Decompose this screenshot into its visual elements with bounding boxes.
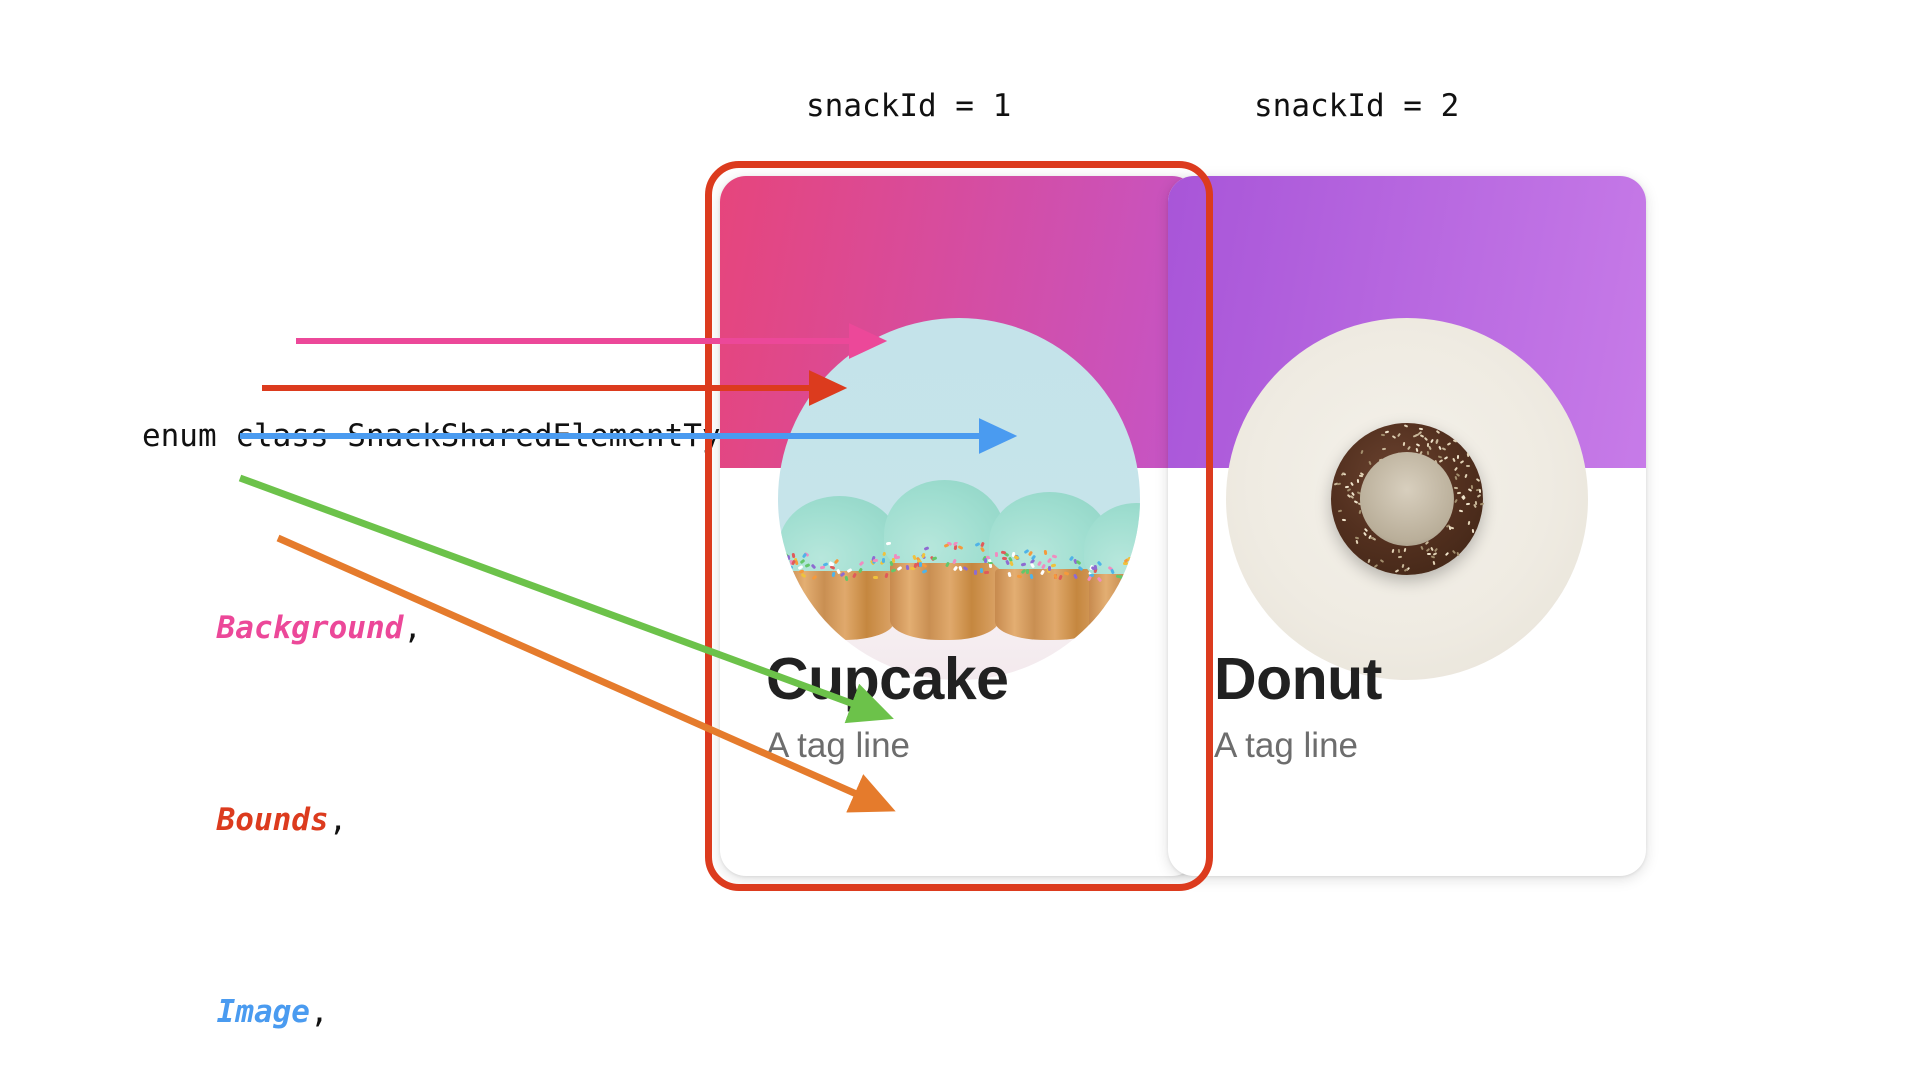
sprinkle [890, 568, 896, 573]
cupcake-4 [1089, 514, 1140, 641]
sprinkle [974, 570, 977, 575]
code-line-image: Image, [30, 940, 795, 988]
sprinkle [1363, 532, 1367, 536]
code-line-bounds: Bounds, [30, 748, 795, 796]
sprinkle [1430, 439, 1434, 443]
sprinkle [1432, 561, 1435, 565]
sprinkle [1464, 473, 1467, 477]
sprinkle [1077, 565, 1083, 570]
sprinkle [1076, 560, 1082, 565]
enum-entry-background: Background [217, 610, 404, 646]
sprinkle [1466, 465, 1470, 467]
sprinkle [1439, 459, 1443, 463]
sprinkle [919, 562, 922, 567]
sprinkle [799, 559, 805, 565]
sprinkle [1466, 502, 1470, 504]
card-title-cupcake: Cupcake [766, 650, 1008, 709]
sprinkle [1454, 498, 1458, 502]
sprinkle [1457, 492, 1461, 494]
cupcake-2 [890, 492, 999, 640]
sprinkle [1040, 570, 1045, 576]
sprinkle [1361, 450, 1364, 454]
sprinkle [1420, 434, 1424, 438]
sprinkle [1009, 560, 1013, 566]
sprinkle [783, 573, 787, 579]
sprinkles [781, 552, 898, 581]
sprinkle [1454, 486, 1458, 488]
sprinkle [1404, 424, 1408, 427]
card-title-donut: Donut [1214, 650, 1382, 709]
sprinkle [1460, 461, 1464, 465]
sprinkle [886, 542, 892, 546]
sprinkle [1397, 433, 1401, 437]
sprinkle [1096, 577, 1102, 583]
sprinkle [952, 559, 957, 565]
sprinkle [1442, 447, 1446, 450]
sprinkle [1398, 556, 1402, 558]
enum-entry-bounds: Bounds [217, 802, 329, 838]
sprinkle [984, 570, 989, 573]
sprinkle [882, 558, 885, 563]
sprinkle [1064, 571, 1070, 575]
sprinkle [1357, 479, 1359, 483]
sprinkle [1337, 483, 1341, 486]
sprinkle [1407, 446, 1411, 450]
sprinkle [1420, 546, 1423, 550]
sprinkle [958, 566, 962, 572]
sprinkle [1127, 557, 1132, 561]
sprinkle [1459, 510, 1463, 513]
sprinkle [1444, 456, 1448, 460]
sprinkle [1119, 575, 1124, 581]
donut-hole [1360, 452, 1454, 546]
sprinkle [1457, 455, 1459, 459]
sprinkle [1416, 444, 1420, 448]
sprinkle [1380, 559, 1384, 563]
sprinkle [906, 565, 910, 570]
cupcake-photo [778, 318, 1140, 680]
sprinkle [1087, 575, 1092, 581]
sprinkle [958, 545, 964, 550]
card-image-cupcake [778, 318, 1140, 680]
sprinkle [1480, 502, 1484, 505]
sprinkle [1351, 482, 1355, 486]
sprinkle [1401, 563, 1404, 567]
sprinkle [831, 572, 835, 577]
sprinkle [1373, 564, 1377, 568]
sprinkle [1468, 489, 1472, 493]
column-label-snackid-1: snackId = 1 [806, 88, 1011, 124]
snack-card-cupcake[interactable]: Cupcake A tag line [720, 176, 1198, 876]
sprinkle [953, 566, 958, 572]
sprinkle [1096, 561, 1102, 567]
sprinkle [844, 576, 848, 581]
sprinkle [1001, 550, 1006, 554]
sprinkle [1454, 476, 1457, 480]
sprinkle [847, 568, 853, 573]
column-label-snackid-2: snackId = 2 [1254, 88, 1459, 124]
sprinkle [1337, 510, 1341, 513]
sprinkle [1021, 563, 1027, 567]
sprinkle [1445, 552, 1449, 556]
code-snippet: enum class SnackSharedElementType { Back… [30, 268, 795, 1080]
sprinkle [1370, 537, 1374, 539]
cupcake-1 [785, 506, 894, 640]
sprinkle [1359, 474, 1363, 477]
sprinkle [801, 573, 807, 578]
sprinkle [1397, 549, 1399, 553]
sprinkle [820, 566, 826, 570]
enum-entry-image: Image [217, 994, 310, 1030]
sprinkle [1436, 430, 1440, 434]
sprinkle [1355, 540, 1358, 544]
sprinkle [1447, 442, 1451, 446]
comma-bounds: , [329, 802, 348, 838]
card-tagline-cupcake: A tag line [766, 728, 910, 763]
sprinkle [1424, 437, 1428, 441]
sprinkle [1419, 427, 1423, 430]
sprinkle [980, 542, 985, 547]
sprinkle [980, 546, 985, 552]
sprinkle [1391, 548, 1394, 552]
sprinkle [1342, 518, 1346, 520]
card-image-donut [1226, 318, 1588, 680]
sprinkle [1475, 501, 1477, 505]
code-line-header: enum class SnackSharedElementType { [30, 364, 795, 412]
sprinkle [787, 566, 792, 570]
sprinkle [995, 552, 998, 557]
sprinkle [921, 563, 927, 568]
sprinkle [1477, 494, 1481, 498]
sprinkle [962, 566, 968, 571]
sprinkle [1058, 574, 1063, 580]
sprinkle [858, 568, 863, 574]
comma-image: , [310, 994, 329, 1030]
comma-background: , [403, 610, 422, 646]
sprinkle [1452, 550, 1456, 554]
sprinkle [1110, 568, 1115, 574]
sprinkle [1051, 563, 1057, 567]
sprinkle [921, 569, 927, 574]
sprinkles [1086, 557, 1140, 585]
code-line-background: Background, [30, 556, 795, 604]
sprinkle [1030, 574, 1034, 580]
sprinkle [1453, 458, 1457, 462]
sprinkle [897, 566, 903, 571]
sprinkle [1094, 565, 1098, 570]
sprinkle [858, 561, 864, 567]
sprinkle [1347, 488, 1351, 492]
sprinkle [1073, 573, 1078, 579]
sprinkle [1452, 440, 1456, 443]
sprinkles [886, 542, 1003, 575]
enum-declaration: enum class SnackSharedElementType { [142, 418, 795, 454]
sprinkle [1471, 484, 1473, 488]
sprinkle [945, 562, 950, 568]
sprinkle [812, 574, 818, 580]
sprinkle [1369, 460, 1372, 464]
code-indent [142, 610, 217, 646]
sprinkle [1351, 492, 1355, 496]
sprinkle [1381, 434, 1385, 437]
sprinkle [1454, 467, 1458, 471]
sprinkle [1472, 529, 1475, 533]
sprinkle [1426, 547, 1430, 551]
sprinkle [1132, 562, 1137, 568]
sprinkle [1008, 572, 1012, 578]
sprinkle [924, 546, 930, 551]
sprinkle [1129, 571, 1135, 576]
sprinkle [1382, 448, 1386, 450]
code-indent [142, 994, 217, 1030]
sprinkle [834, 559, 840, 565]
sprinkle [1395, 569, 1399, 573]
sprinkle [1017, 575, 1023, 579]
sprinkle [1468, 521, 1471, 525]
sprinkle [1044, 550, 1048, 555]
sprinkle [1402, 442, 1405, 446]
sprinkle [1479, 489, 1481, 493]
sprinkle [1367, 558, 1370, 562]
sprinkle [810, 564, 816, 570]
sprinkle [1467, 453, 1470, 457]
sprinkle [873, 576, 878, 579]
code-indent [142, 802, 217, 838]
sprinkle [852, 572, 857, 578]
sprinkle [1385, 431, 1389, 434]
diagram-canvas: enum class SnackSharedElementType { Back… [0, 0, 1920, 1080]
sprinkle [1426, 451, 1428, 455]
sprinkle [1052, 554, 1058, 558]
sprinkle [1047, 558, 1052, 564]
sprinkle [1404, 548, 1407, 552]
sprinkle [1438, 445, 1442, 449]
sprinkle [1030, 563, 1035, 569]
sprinkle [895, 556, 900, 560]
sprinkle [1353, 500, 1357, 504]
sprinkle [1048, 566, 1051, 571]
sprinkle [1456, 551, 1459, 555]
sprinkle [791, 552, 795, 557]
sprinkle [1428, 446, 1432, 450]
sprinkle [1476, 478, 1480, 482]
sprinkle [1041, 564, 1046, 570]
sprinkle [1404, 568, 1408, 572]
snack-card-donut[interactable]: Donut A tag line [1168, 176, 1646, 876]
card-tagline-donut: A tag line [1214, 728, 1358, 763]
sprinkle [805, 563, 811, 568]
sprinkle [1136, 557, 1140, 562]
sprinkle [1026, 569, 1029, 574]
sprinkle [1430, 556, 1434, 559]
sprinkle [1053, 574, 1057, 580]
donut-photo [1226, 318, 1588, 680]
sprinkle [1391, 435, 1395, 439]
